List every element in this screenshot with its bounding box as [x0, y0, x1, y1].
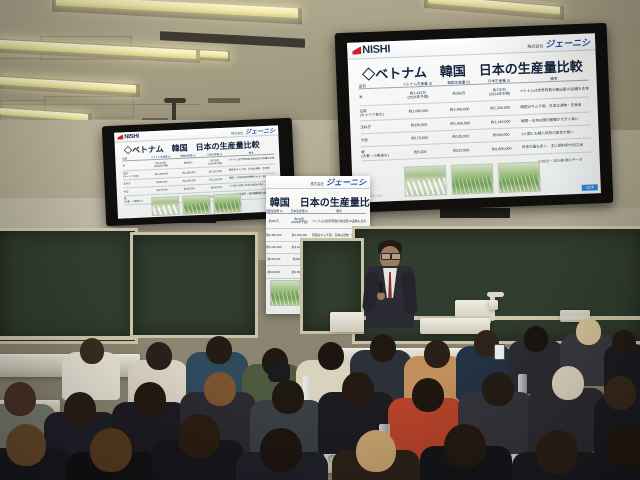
slide-source-note: ※2023・2024年頃のデータ — [538, 158, 583, 165]
audience-head — [576, 318, 601, 345]
cell-vietnam: 約1,080,000 — [409, 109, 429, 114]
audience-head — [4, 382, 36, 416]
audience-head — [412, 378, 444, 412]
cell-remark: 韓国・日本は国内需要が大きく高い — [229, 175, 267, 180]
wall-monitor-right[interactable]: NISHI 株式会社 ジェーニシ ◇ベトナム 韓国 日本の生産量比較 品目 ベト… — [335, 23, 614, 213]
audience-head — [272, 380, 304, 414]
cell-item: 大豆 — [124, 190, 129, 193]
slide-header: NISHI 株式会社 ジェーニシ — [266, 176, 370, 189]
cell-vietnam: 約170,000 — [411, 136, 428, 141]
cell-remark: 3ヶ国とも輸入依存の割合が高い — [230, 183, 265, 188]
audience-head — [178, 414, 220, 458]
cell-korea: 約360万 — [184, 161, 193, 164]
cell-remark: ベトナムは世界有数の輸出国 IR品種も主食 — [228, 157, 274, 162]
cell-item: 玉ねぎ — [360, 125, 371, 129]
presenter-glasses — [381, 253, 391, 260]
cell-korea: 約105,000 — [267, 257, 280, 261]
cell-japan: 約260,000 — [211, 186, 222, 189]
cell-korea: 約110,000 — [267, 270, 280, 274]
cell-korea: 約1,600,000 — [182, 179, 195, 183]
cell-remark: 韓国はキムチ用、日本は漬物・生食用 — [520, 102, 581, 108]
audience-head — [90, 428, 132, 472]
cell-japan: 約1,140,000 — [491, 120, 511, 125]
monitor-mount — [440, 208, 510, 218]
cell-japan-sub: (2024年予測) — [208, 161, 222, 165]
cell-vietnam: 約5,000 — [414, 150, 427, 154]
jenishi-logo: 株式会社 ジェーニシ — [231, 126, 275, 137]
green-chalkboard — [130, 232, 258, 338]
field-photo-snow — [404, 165, 447, 197]
nishi-logo-text: NISHI — [124, 133, 139, 140]
backpack — [268, 362, 290, 382]
lectern-front-panel — [330, 312, 364, 332]
audience-head — [604, 376, 636, 410]
field-photo-green — [182, 195, 211, 215]
document-camera-body — [489, 300, 498, 310]
field-photo-snow — [151, 196, 180, 216]
cell-remark: 3ヶ国とも輸入依存の割合が高い — [521, 130, 573, 136]
lecture-hall-photo: NISHI 株式会社 ジェーニシ ◇ベトナム 韓国 日本の生産量比較 品目 ベト… — [0, 0, 640, 480]
table-row: 米 約2,443万 (2024年予測) 約360万 約730万 (2024年予測… — [266, 214, 366, 229]
jenishi-logo-text: ジェーニシ — [545, 35, 590, 50]
audience-head — [64, 392, 96, 426]
slide-title: ◇ベトナム 韓国 日本の生産量比較 — [266, 194, 370, 209]
cell-vietnam: 約1,080,000 — [155, 172, 168, 176]
audience-head — [370, 334, 396, 362]
cell-item-sub: (大麦・小麦含む) — [124, 200, 142, 204]
cell-item: 玉ねぎ — [123, 182, 130, 185]
cell-korea: 約110,000 — [453, 148, 469, 153]
audience-head — [356, 430, 396, 472]
audience-head — [536, 430, 578, 474]
cell-korea: 約360万 — [269, 219, 279, 223]
audience-head — [424, 340, 450, 368]
slide-photos — [404, 162, 541, 197]
jenishi-logo: 株式会社 ジェーニシ — [310, 177, 366, 188]
audience-phone — [494, 344, 505, 360]
jenishi-logo-prefix: 株式会社 — [527, 43, 543, 50]
cell-vietnam: 約170,000 — [157, 188, 168, 191]
audience-head — [612, 330, 636, 356]
audience-head — [260, 428, 302, 472]
cell-korea: 約2,480,000 — [182, 171, 195, 175]
audience-head — [80, 338, 104, 364]
cell-japan: 約1,140,000 — [209, 178, 222, 182]
cell-japan: 約260,000 — [493, 133, 510, 138]
audience-head — [318, 342, 344, 370]
field-photo-green — [451, 163, 494, 195]
audience-head — [6, 424, 46, 466]
nishi-logo: NISHI — [117, 133, 139, 140]
audience-head — [146, 342, 172, 370]
chalk-rail — [0, 336, 136, 340]
cell-japan: 約1,200,000 — [292, 233, 307, 237]
ceiling-pole-base — [164, 98, 186, 103]
cell-korea: 約105,000 — [452, 134, 469, 139]
nishi-logo-mark — [117, 134, 123, 139]
audience-head — [606, 426, 640, 468]
cell-japan: 約1,200,000 — [490, 106, 510, 111]
cell-japan-sub: (2024年予測) — [489, 92, 510, 97]
cell-item-sub: (キャベツ含む) — [123, 175, 139, 179]
cell-vietnam-sub: (2024年予測) — [407, 95, 428, 100]
handheld-microphone — [379, 282, 383, 293]
audience-head — [552, 366, 584, 400]
cell-japan: 約1,200,000 — [209, 169, 222, 173]
audience-head — [134, 382, 166, 416]
production-comparison-table: 品目 ベトナム生産量 (t) 韓国生産量 (t) 日本生産量 (t) 備考 米 … — [359, 76, 592, 162]
cell-japan-sub: (2024年予測) — [291, 220, 307, 224]
cell-vietnam: 約130,000 — [411, 123, 428, 128]
cell-korea: 約2,480,000 — [450, 107, 470, 112]
cell-remark: 日本が最も多く、主に飼料用や加工用 — [522, 143, 583, 149]
cell-item: 米 — [359, 95, 363, 99]
jenishi-logo-prefix: 株式会社 — [231, 131, 243, 136]
cell-korea: 約1,600,000 — [266, 245, 281, 249]
cell-item: 大豆 — [361, 138, 368, 142]
slide-page-number: 1/24 — [582, 184, 598, 191]
cell-item: 米 — [123, 164, 126, 167]
audience-head — [524, 326, 548, 352]
ceiling-vent — [208, 98, 240, 103]
cell-item-sub: (キャベツ含む) — [360, 113, 384, 118]
audience-head — [342, 372, 374, 406]
cell-remark: 韓国はキムチ用、日本は漬物・生食用 — [229, 167, 270, 172]
audience-head — [206, 336, 232, 364]
audience-head — [204, 372, 236, 406]
field-photo-green — [270, 280, 300, 306]
cell-korea: 約1,600,000 — [450, 121, 470, 126]
nishi-logo: NISHI — [352, 43, 390, 56]
audience-head — [482, 372, 514, 406]
cell-remark: ベトナムは世界有数の輸出国 IR品種も主食 — [312, 219, 366, 223]
nishi-logo-mark — [352, 46, 361, 54]
jenishi-logo-prefix: 株式会社 — [310, 181, 324, 186]
document-camera-head — [487, 292, 504, 297]
slide-photos — [151, 193, 242, 216]
cell-vietnam: 約130,000 — [156, 180, 167, 183]
cell-korea: 約2,480,000 — [266, 233, 281, 237]
presenter-glasses — [391, 253, 401, 260]
nishi-logo-text: NISHI — [362, 43, 390, 56]
cell-item-sub: (大麦・小麦含む) — [361, 153, 389, 158]
cell-remark: ベトナムは世界有数の輸出国 IR品種も主食 — [520, 86, 589, 93]
green-chalkboard — [0, 228, 138, 344]
cell-remark: 韓国・日本は国内需要が大きく高い — [521, 117, 579, 123]
field-photo-rows — [213, 193, 242, 213]
cell-vietnam-sub: (2024年予測) — [154, 164, 168, 168]
cell-japan: 約1,800,000 — [492, 146, 512, 151]
jenishi-logo-text: ジェーニシ — [326, 177, 366, 188]
cell-korea: 約360万 — [452, 92, 465, 97]
field-photo-rows — [498, 162, 541, 194]
audience-head — [444, 424, 486, 468]
presenter-hand — [377, 292, 385, 300]
jenishi-logo-text: ジェーニシ — [245, 126, 275, 136]
slide-small: NISHI 株式会社 ジェーニシ ◇ベトナム 韓国 日本の生産量比較 品目 ベト… — [114, 125, 282, 218]
jenishi-logo: 株式会社 ジェーニシ — [527, 35, 590, 50]
slide-large: NISHI 株式会社 ジェーニシ ◇ベトナム 韓国 日本の生産量比較 品目 ベト… — [347, 33, 601, 202]
water-bottle — [303, 376, 311, 400]
cell-korea: 約105,000 — [184, 187, 195, 190]
ceiling-light — [200, 50, 228, 58]
